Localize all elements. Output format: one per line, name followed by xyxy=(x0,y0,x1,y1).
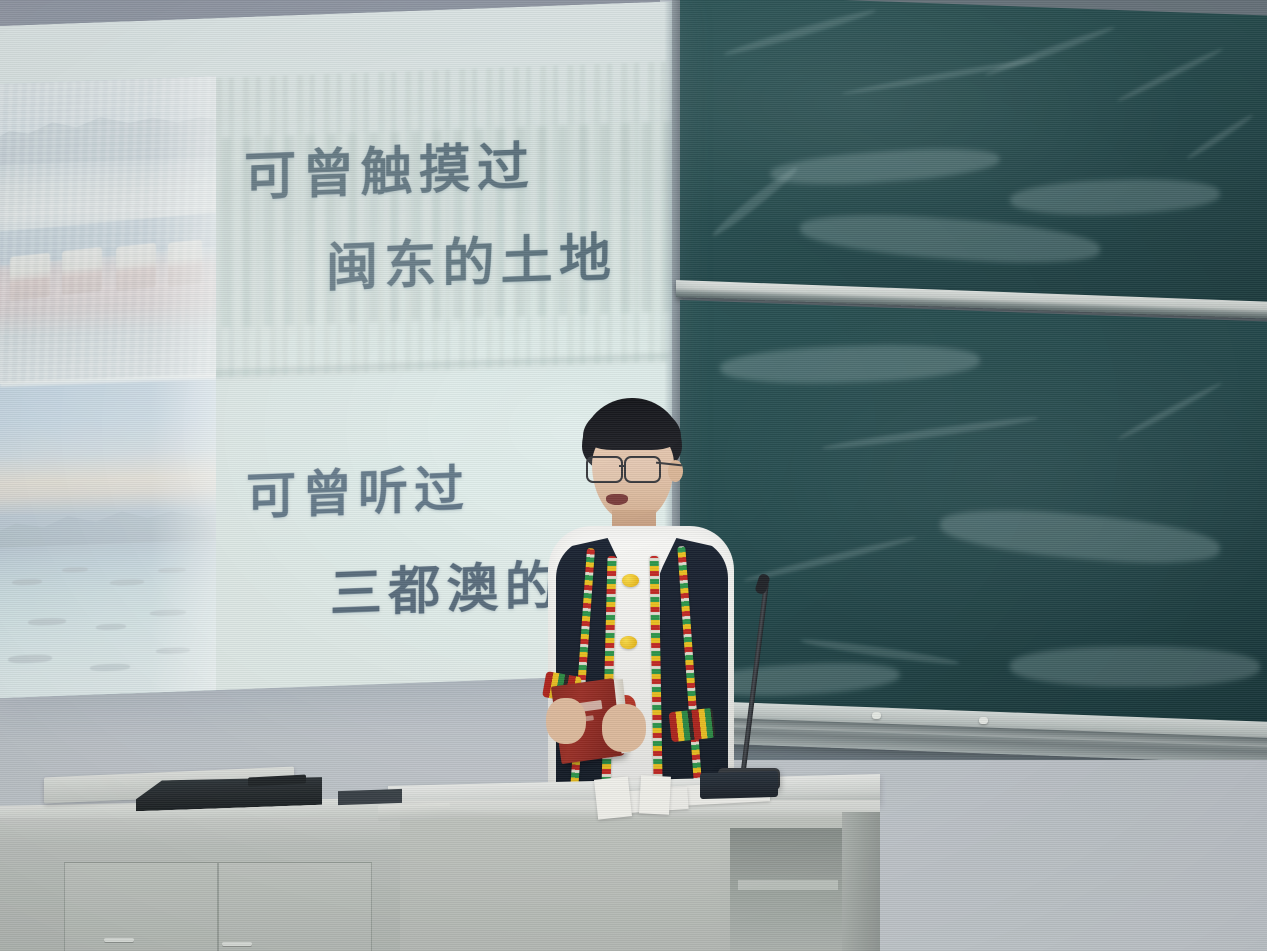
photo-right-fade xyxy=(0,76,216,698)
dark-case-on-lectern xyxy=(700,771,778,799)
right-hand xyxy=(602,704,646,752)
cabinet-handle[interactable] xyxy=(222,942,252,946)
cabinet-handle[interactable] xyxy=(104,938,134,942)
note-card xyxy=(594,776,632,819)
left-hand xyxy=(546,698,586,744)
slide-line-2: 闽东的土地 xyxy=(326,215,617,301)
embroidered-cuff xyxy=(669,708,716,742)
glasses-icon xyxy=(584,456,682,480)
slide-photo-strip xyxy=(0,76,216,698)
classroom-photo: 可曾触摸过 闽东的土地 可曾听过 三都澳的潮 xyxy=(0,0,1267,951)
frog-button xyxy=(620,636,637,649)
slide-line-3: 可曾听过 xyxy=(246,449,470,529)
console-cabinet-door[interactable] xyxy=(64,862,218,951)
console-right-panel xyxy=(378,803,450,822)
note-card xyxy=(639,775,671,815)
chalk-piece[interactable] xyxy=(979,717,988,724)
frog-button xyxy=(622,574,639,587)
lectern-shelf xyxy=(738,880,838,890)
mouth xyxy=(606,494,628,505)
console-cabinet-door[interactable] xyxy=(218,862,372,951)
lectern-side-panel xyxy=(842,812,880,951)
slide-line-1: 可曾触摸过 xyxy=(244,124,535,210)
chalk-piece[interactable] xyxy=(872,712,881,719)
console-gap-shadow xyxy=(338,789,402,805)
blackboard-upper-panel xyxy=(680,0,1267,312)
presenting-student xyxy=(520,398,820,828)
